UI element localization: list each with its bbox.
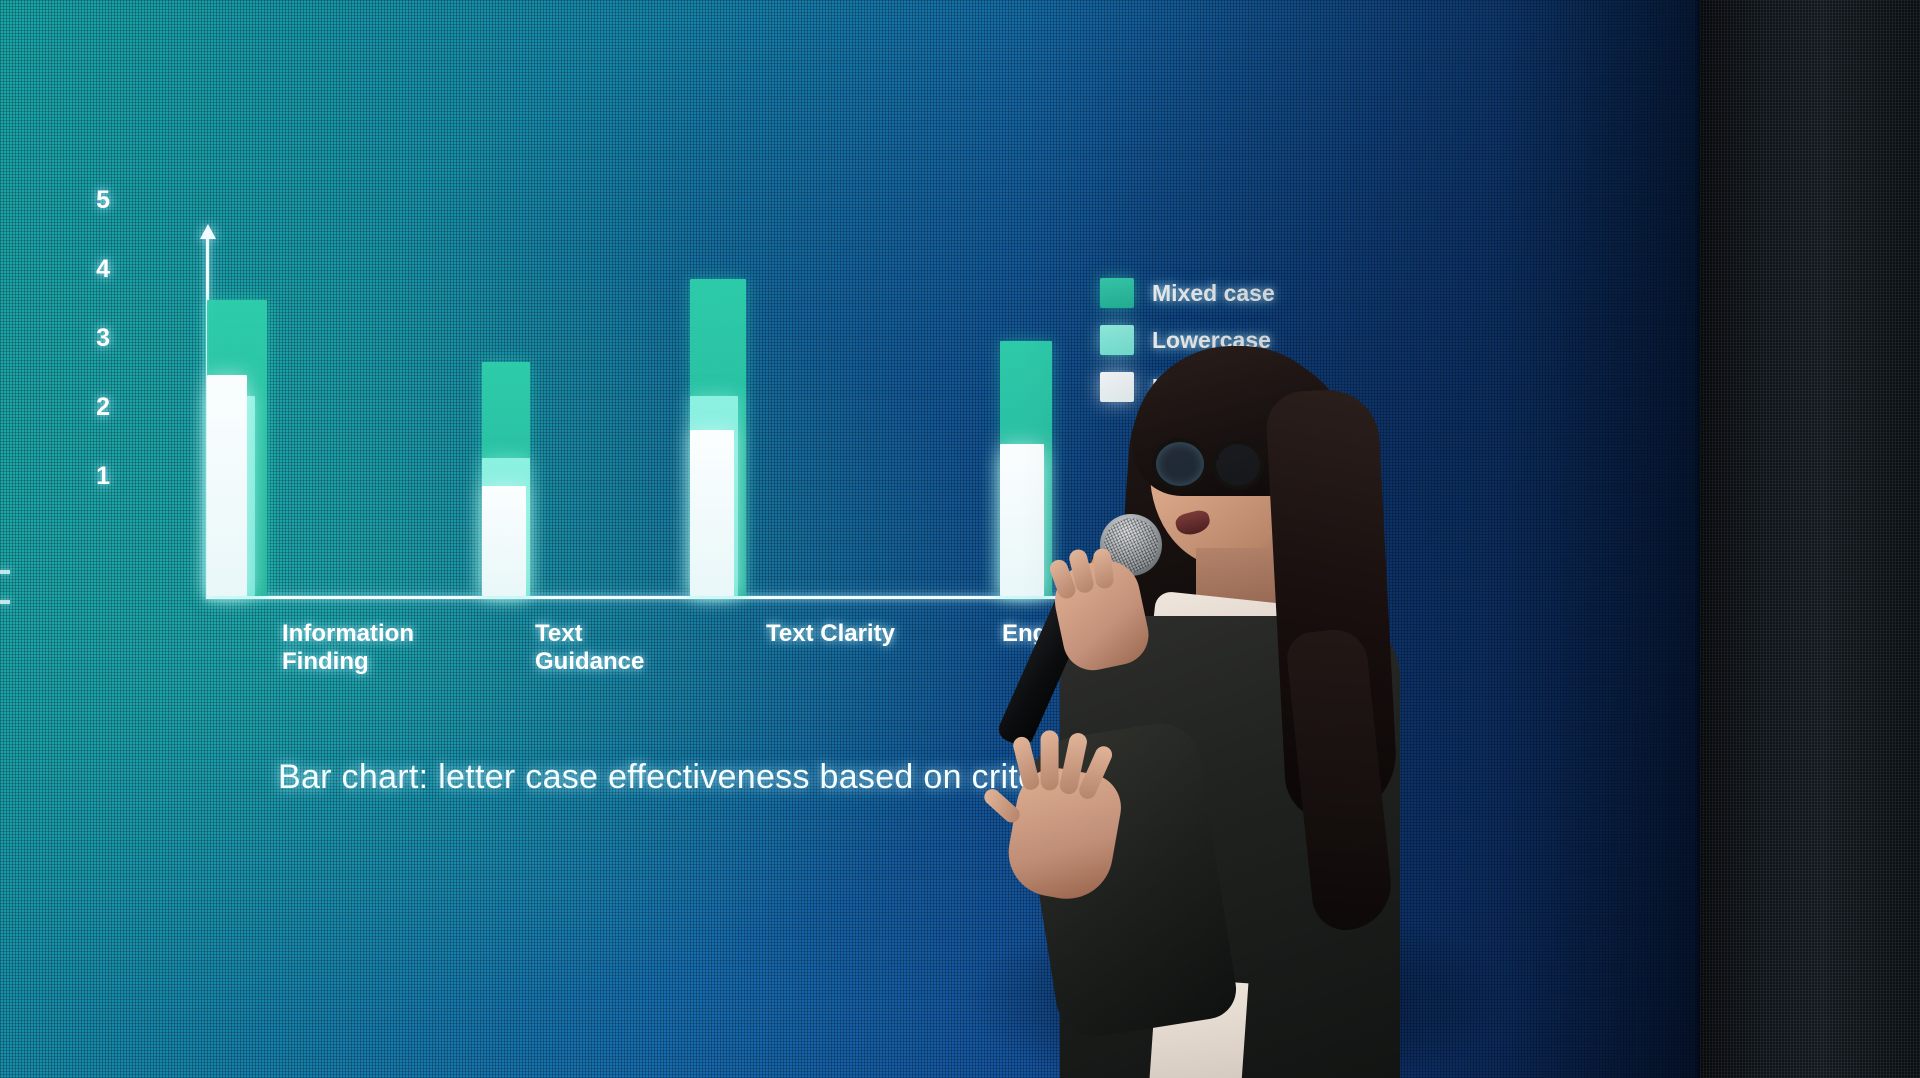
y-tick-3: 3 (80, 324, 110, 353)
wall-texture (1700, 0, 1920, 1078)
presenter-figure (1000, 330, 1420, 1078)
x-label-text-clarity: Text Clarity (766, 620, 966, 648)
legend-swatch-mixed-case (1100, 278, 1134, 308)
y-axis-arrow-icon (200, 224, 216, 239)
screenshot-stage: 5 4 3 2 1 (0, 0, 1920, 1078)
legend-item-mixed-case[interactable]: Mixed case (1100, 278, 1275, 308)
slide-caption: Bar chart: letter case effectiveness bas… (278, 758, 1076, 797)
glasses-right-lens (1212, 440, 1264, 490)
finger (1041, 730, 1059, 790)
glasses-left-lens (1152, 438, 1208, 490)
y-tick-2: 2 (80, 393, 110, 422)
legend-label-mixed-case: Mixed case (1152, 280, 1275, 307)
y-tick-4: 4 (80, 255, 110, 284)
x-label-information-finding: Information Finding (282, 620, 462, 677)
y-tick-1: 1 (80, 462, 110, 491)
glasses-bridge (1205, 456, 1219, 460)
bar-uppercase[interactable] (690, 430, 734, 596)
dark-wall (1700, 0, 1920, 1078)
bar-uppercase[interactable] (482, 486, 526, 596)
x-label-text-guidance: Text Guidance (535, 620, 665, 677)
bar-uppercase[interactable] (207, 375, 247, 596)
y-tick-5: 5 (80, 186, 110, 215)
